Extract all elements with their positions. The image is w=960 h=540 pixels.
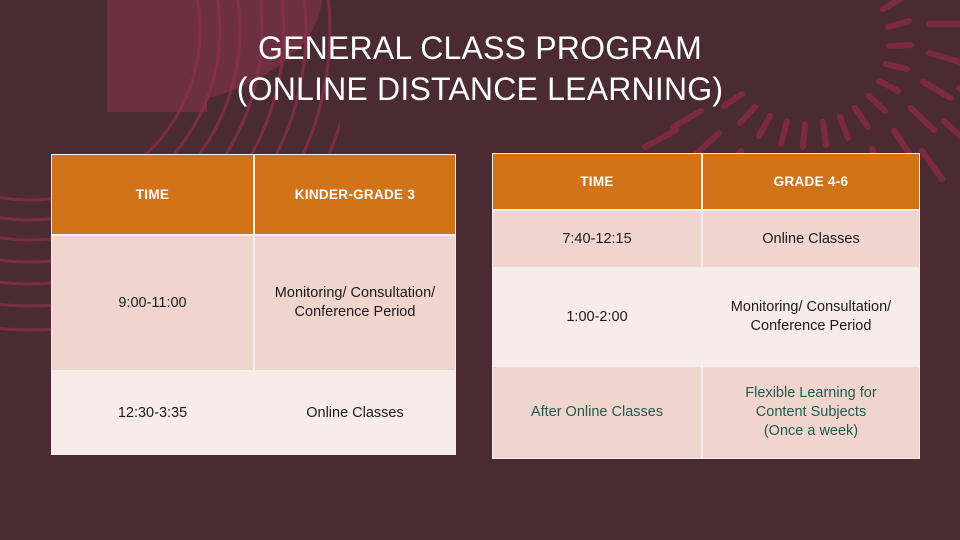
slide-title: GENERAL CLASS PROGRAM (ONLINE DISTANCE L… — [0, 28, 960, 110]
table-row: 7:40-12:15 Online Classes — [492, 210, 920, 268]
cell-time: 1:00-2:00 — [492, 268, 702, 366]
table-row: After Online Classes Flexible Learning f… — [492, 366, 920, 459]
slide-canvas: GENERAL CLASS PROGRAM (ONLINE DISTANCE L… — [0, 0, 960, 540]
cell-activity: Online Classes — [254, 371, 456, 455]
cell-time: 12:30-3:35 — [51, 371, 254, 455]
cell-activity: Online Classes — [702, 210, 920, 268]
table-header-row: TIME KINDER-GRADE 3 — [51, 154, 456, 235]
grade-4-6-schedule-table: TIME GRADE 4-6 7:40-12:15 Online Classes… — [492, 153, 920, 459]
cell-time: 9:00-11:00 — [51, 235, 254, 371]
title-line-2: (ONLINE DISTANCE LEARNING) — [0, 69, 960, 110]
table-row: 9:00-11:00 Monitoring/ Consultation/Conf… — [51, 235, 456, 371]
cell-activity: Monitoring/ Consultation/Conference Peri… — [254, 235, 456, 371]
table-row: 1:00-2:00 Monitoring/ Consultation/Confe… — [492, 268, 920, 366]
cell-activity: Monitoring/ Consultation/Conference Peri… — [702, 268, 920, 366]
header-cell-grade: GRADE 4-6 — [702, 153, 920, 210]
header-cell-time: TIME — [492, 153, 702, 210]
header-cell-time: TIME — [51, 154, 254, 235]
cell-time: After Online Classes — [492, 366, 702, 459]
table-header-row: TIME GRADE 4-6 — [492, 153, 920, 210]
table-row: 12:30-3:35 Online Classes — [51, 371, 456, 455]
cell-activity: Flexible Learning forContent Subjects(On… — [702, 366, 920, 459]
header-cell-grade: KINDER-GRADE 3 — [254, 154, 456, 235]
cell-time: 7:40-12:15 — [492, 210, 702, 268]
kinder-grade-3-schedule-table: TIME KINDER-GRADE 3 9:00-11:00 Monitorin… — [51, 154, 456, 455]
title-line-1: GENERAL CLASS PROGRAM — [0, 28, 960, 69]
